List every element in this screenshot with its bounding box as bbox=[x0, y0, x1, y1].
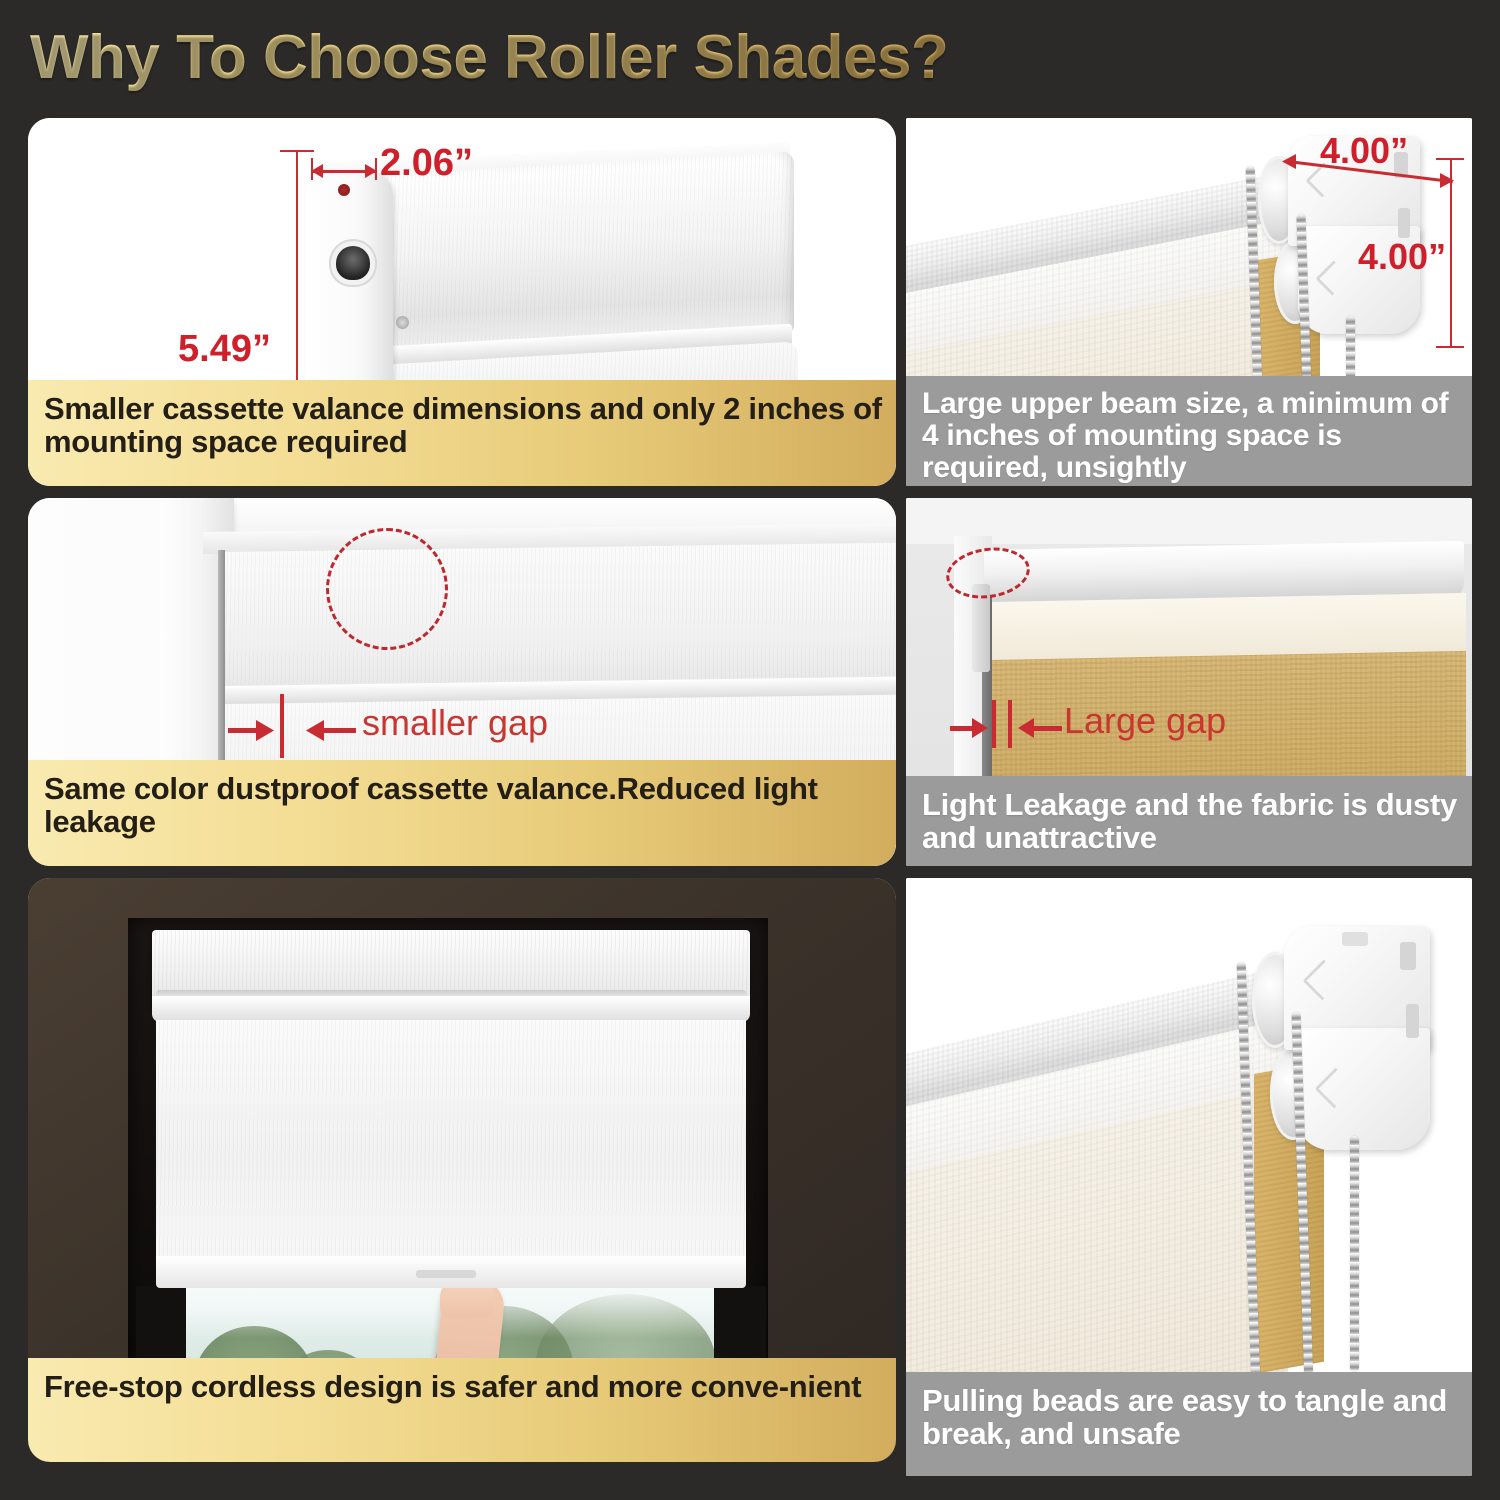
dimension-label-height: 5.49” bbox=[178, 328, 271, 371]
panel-large-gap: Large gap Light Leakage and the fabric i… bbox=[906, 498, 1472, 866]
panel-cordless-design: Free-stop cordless design is safer and m… bbox=[28, 878, 896, 1462]
bead-chain bbox=[1350, 1136, 1359, 1372]
dimension-label-width: 2.06” bbox=[380, 142, 473, 185]
panel-smaller-gap: smaller gap Same color dustproof cassett… bbox=[28, 498, 896, 866]
panel-large-upper-beam: 4.00” 4.00” Large upper beam size, a min… bbox=[906, 118, 1472, 486]
panel-pulling-beads: Pulling beads are easy to tangle and bre… bbox=[906, 878, 1472, 1476]
annotation-large-gap: Large gap bbox=[1064, 700, 1226, 742]
panel-caption: Same color dustproof cassette valance.Re… bbox=[28, 760, 896, 866]
dimension-label-beam-height: 4.00” bbox=[1358, 236, 1446, 278]
panel-smaller-cassette: 2.06” 5.49” Smaller cassette valance dim… bbox=[28, 118, 896, 486]
highlight-circle-icon bbox=[326, 528, 448, 650]
panel-caption: Free-stop cordless design is safer and m… bbox=[28, 1358, 896, 1462]
dimension-label-beam-width: 4.00” bbox=[1320, 130, 1408, 172]
page-title: Why To Choose Roller Shades? bbox=[30, 22, 948, 93]
panel-caption: Large upper beam size, a minimum of 4 in… bbox=[906, 376, 1472, 486]
panel-caption: Light Leakage and the fabric is dusty an… bbox=[906, 776, 1472, 866]
panel-caption: Smaller cassette valance dimensions and … bbox=[28, 380, 896, 486]
annotation-smaller-gap: smaller gap bbox=[362, 702, 548, 744]
panel-caption: Pulling beads are easy to tangle and bre… bbox=[906, 1372, 1472, 1476]
